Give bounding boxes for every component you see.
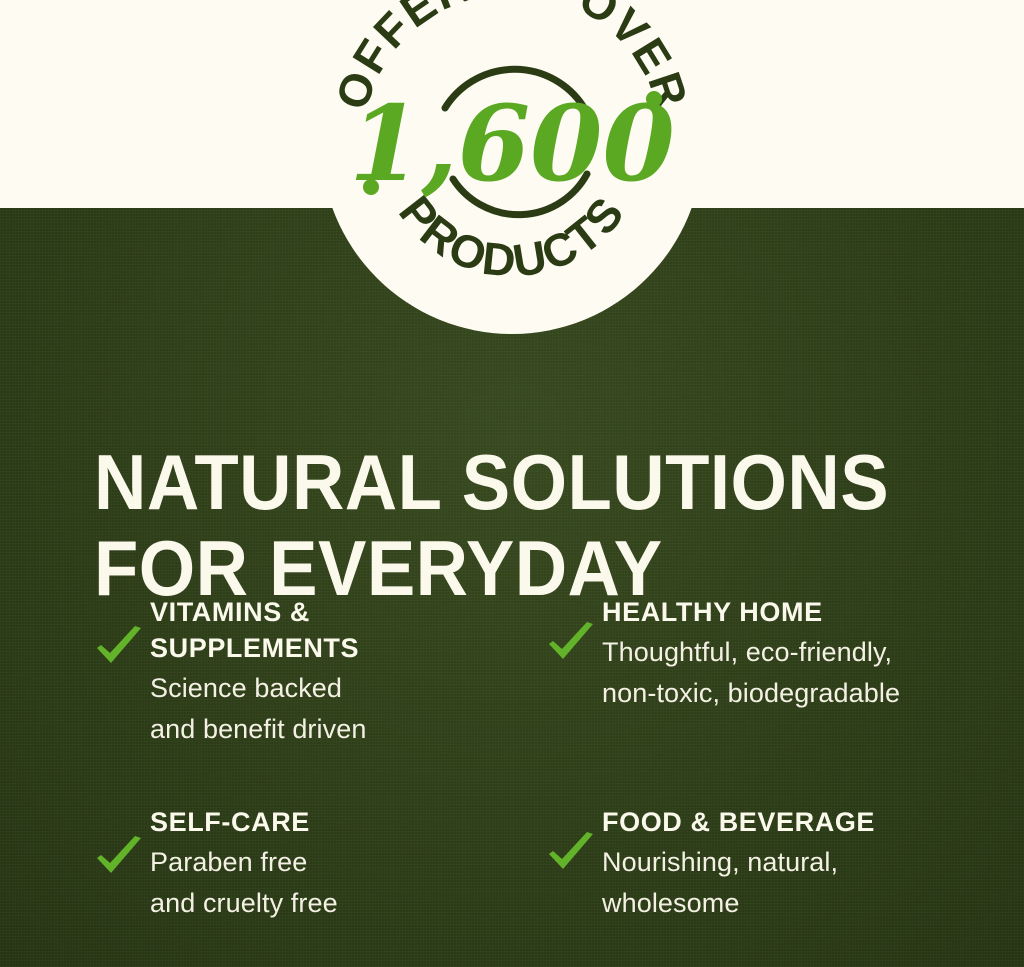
feature-body: VITAMINS & SUPPLEMENTS Science backed an… [150, 592, 546, 750]
promo-banner: OFFERING OVER PRODUCTS 1,600 NATURAL SOL… [0, 0, 1024, 967]
feature-description: Science backed and benefit driven [150, 668, 546, 750]
feature-title: FOOD & BEVERAGE [602, 804, 994, 840]
badge-graphic: OFFERING OVER PRODUCTS 1,600 [321, 0, 703, 334]
check-icon [94, 802, 150, 878]
feature-food-beverage: FOOD & BEVERAGE Nourishing, natural, who… [546, 802, 994, 924]
feature-title: SELF-CARE [150, 804, 546, 840]
feature-vitamins-supplements: VITAMINS & SUPPLEMENTS Science backed an… [94, 592, 546, 750]
feature-description: Thoughtful, eco-friendly, non-toxic, bio… [602, 632, 994, 714]
page-title: NATURAL SOLUTIONS FOR EVERYDAY [94, 439, 912, 611]
feature-body: FOOD & BEVERAGE Nourishing, natural, who… [602, 802, 994, 924]
check-icon [546, 592, 602, 664]
check-icon [94, 592, 150, 668]
feature-list: VITAMINS & SUPPLEMENTS Science backed an… [94, 592, 994, 924]
feature-description: Paraben free and cruelty free [150, 842, 546, 924]
check-icon [546, 802, 602, 874]
feature-body: SELF-CARE Paraben free and cruelty free [150, 802, 546, 924]
feature-healthy-home: HEALTHY HOME Thoughtful, eco-friendly, n… [546, 592, 994, 750]
feature-body: HEALTHY HOME Thoughtful, eco-friendly, n… [602, 592, 994, 714]
feature-description: Nourishing, natural, wholesome [602, 842, 994, 924]
feature-title: HEALTHY HOME [602, 594, 994, 630]
badge-product-count: 1,600 [349, 82, 675, 205]
feature-self-care: SELF-CARE Paraben free and cruelty free [94, 802, 546, 924]
products-count-badge: OFFERING OVER PRODUCTS 1,600 [321, 0, 703, 334]
feature-title: VITAMINS & SUPPLEMENTS [150, 594, 546, 666]
